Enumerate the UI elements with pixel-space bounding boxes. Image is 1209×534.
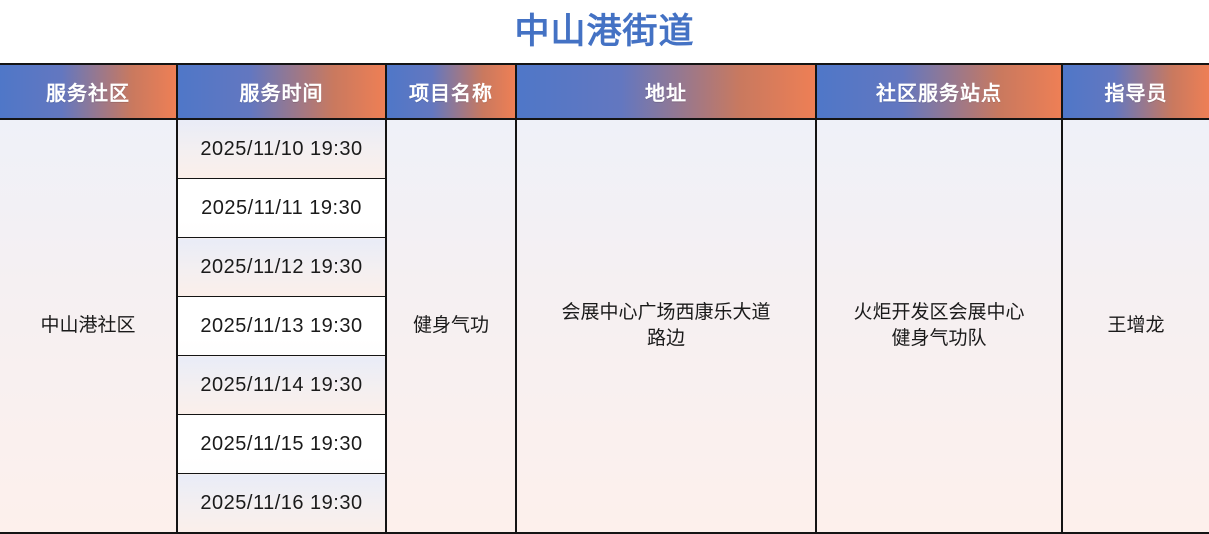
cell-address: 会展中心广场西康乐大道 路边 [516, 119, 816, 533]
column-header-station: 社区服务站点 [816, 64, 1062, 119]
cell-station: 火炬开发区会展中心 健身气功队 [816, 119, 1062, 533]
cell-time: 2025/11/13 19:30 [177, 297, 386, 356]
cell-address-line-2: 路边 [523, 326, 809, 352]
cell-time: 2025/11/11 19:30 [177, 179, 386, 238]
table-body: 中山港社区 2025/11/10 19:30 健身气功 会展中心广场西康乐大道 … [0, 119, 1209, 533]
cell-time: 2025/11/15 19:30 [177, 415, 386, 474]
activity-schedule-table: 服务社区 服务时间 项目名称 地址 社区服务站点 指导员 中山港社区 2025/… [0, 63, 1209, 534]
column-header-coach: 指导员 [1062, 64, 1209, 119]
table-header: 服务社区 服务时间 项目名称 地址 社区服务站点 指导员 [0, 64, 1209, 119]
page-title-bar: 中山港街道 [0, 0, 1209, 63]
cell-time: 2025/11/14 19:30 [177, 356, 386, 415]
cell-address-line-1: 会展中心广场西康乐大道 [523, 300, 809, 326]
table-header-row: 服务社区 服务时间 项目名称 地址 社区服务站点 指导员 [0, 64, 1209, 119]
cell-station-line-1: 火炬开发区会展中心 [823, 300, 1055, 326]
cell-time: 2025/11/10 19:30 [177, 119, 386, 179]
schedule-page: 中山港街道 服务社区 服务时间 项目名称 地址 社区服务站点 指导员 中山港社区 [0, 0, 1209, 467]
cell-time: 2025/11/12 19:30 [177, 238, 386, 297]
column-header-address: 地址 [516, 64, 816, 119]
column-header-project: 项目名称 [386, 64, 516, 119]
page-title: 中山港街道 [514, 14, 694, 49]
cell-project: 健身气功 [386, 119, 516, 533]
cell-time: 2025/11/16 19:30 [177, 474, 386, 534]
table-row: 中山港社区 2025/11/10 19:30 健身气功 会展中心广场西康乐大道 … [0, 119, 1209, 179]
column-header-community: 服务社区 [0, 64, 177, 119]
column-header-time: 服务时间 [177, 64, 386, 119]
cell-community: 中山港社区 [0, 119, 177, 533]
cell-coach: 王增龙 [1062, 119, 1209, 533]
cell-station-line-2: 健身气功队 [823, 326, 1055, 352]
